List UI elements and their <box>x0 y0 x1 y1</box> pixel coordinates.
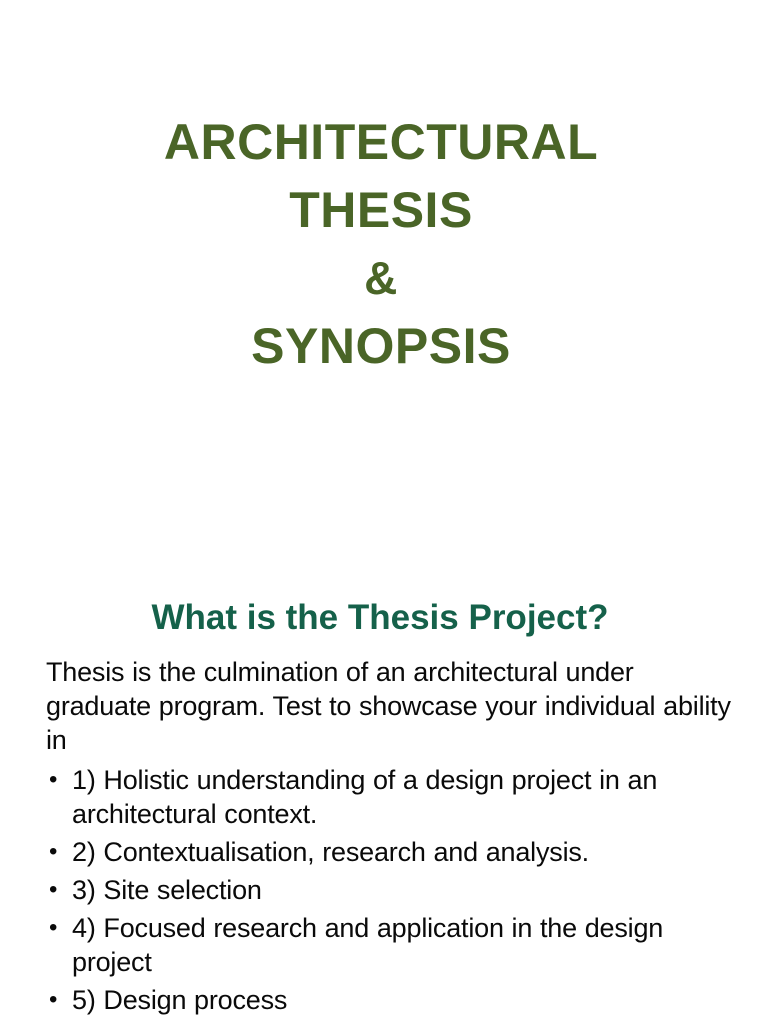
list-item-label: 4) Focused research and application in t… <box>72 911 736 979</box>
list-item: • 3) Site selection <box>46 873 736 907</box>
title-line-2: THESIS <box>0 176 762 244</box>
bullet-icon: • <box>49 983 57 1017</box>
title-block: ARCHITECTURAL THESIS & SYNOPSIS <box>0 108 768 380</box>
list-item-label: 3) Site selection <box>72 873 736 907</box>
list-item-label: 1) Holistic understanding of a design pr… <box>72 763 736 831</box>
title-line-4: SYNOPSIS <box>0 312 762 380</box>
list-item-label: 2) Contextualisation, research and analy… <box>72 835 736 869</box>
title-line-1: ARCHITECTURAL <box>0 108 762 176</box>
section-heading: What is the Thesis Project? <box>0 597 768 639</box>
intro-paragraph: Thesis is the culmination of an architec… <box>46 655 736 757</box>
bullet-icon: • <box>49 873 57 907</box>
title-line-ampersand: & <box>0 244 762 312</box>
list-item: • 4) Focused research and application in… <box>46 911 736 979</box>
bullet-icon: • <box>49 835 57 869</box>
bullet-icon: • <box>49 763 57 797</box>
list-item: • 2) Contextualisation, research and ana… <box>46 835 736 869</box>
list-item-label: 5) Design process <box>72 983 736 1017</box>
list-item: • 1) Holistic understanding of a design … <box>46 763 736 831</box>
bullet-list: • 1) Holistic understanding of a design … <box>46 763 736 1017</box>
list-item: • 5) Design process <box>46 983 736 1017</box>
slide-page: ARCHITECTURAL THESIS & SYNOPSIS What is … <box>0 0 768 1024</box>
body-content: Thesis is the culmination of an architec… <box>46 655 736 1021</box>
bullet-icon: • <box>49 911 57 945</box>
